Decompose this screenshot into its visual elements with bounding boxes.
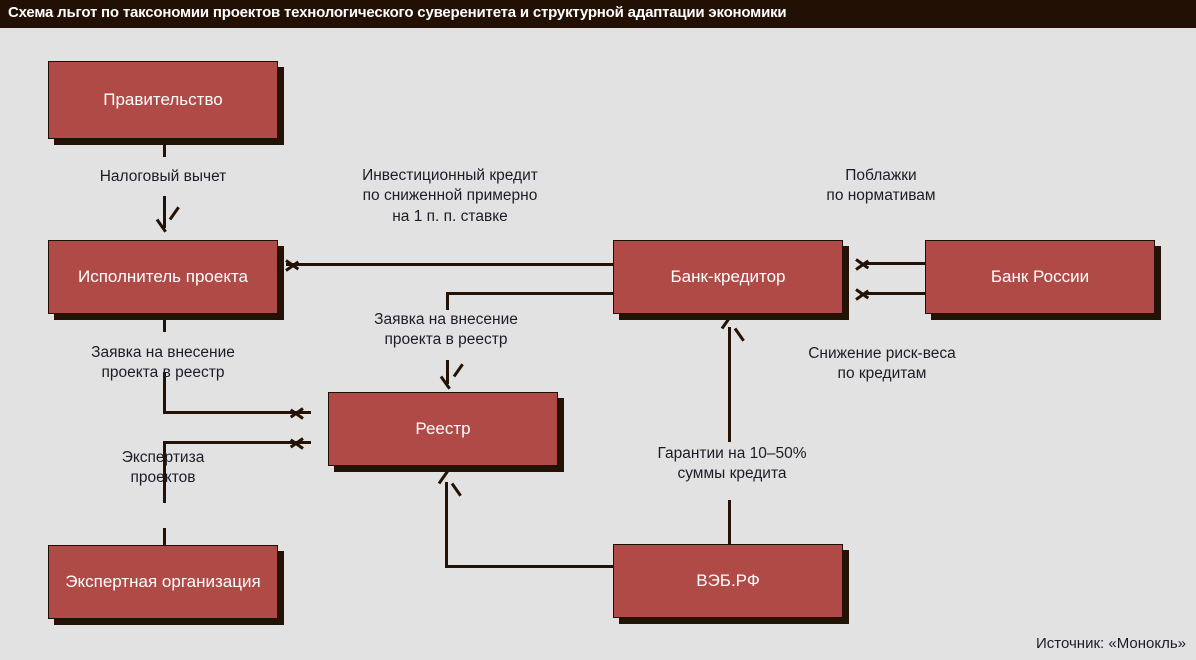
edge-veb-to-creditor-vertical-top	[728, 327, 731, 442]
edge-executor-to-registry-horizontal	[163, 411, 311, 414]
node-registry[interactable]: Реестр	[328, 392, 558, 466]
edge-label-project-expertise: Экспертиза проектов	[73, 448, 253, 489]
edge-expert-stem-bottom	[163, 528, 166, 546]
source-credit: Источник: «Монокль»	[1036, 635, 1186, 652]
edge-government-to-executor-stem-top	[163, 141, 166, 157]
edge-cbr-to-creditor-upper	[866, 262, 926, 265]
node-government-label: Правительство	[103, 89, 223, 111]
node-veb-rf-label: ВЭБ.РФ	[696, 570, 760, 592]
edge-creditor-to-registry-vertical-bottom	[446, 360, 449, 384]
node-bank-of-russia-label: Банк России	[991, 266, 1089, 288]
edge-label-tax-deduction: Налоговый вычет	[63, 167, 263, 187]
node-government[interactable]: Правительство	[48, 61, 278, 139]
edge-label-registry-application-center: Заявка на внесение проекта в реестр	[336, 310, 556, 351]
edge-veb-to-creditor-vertical-bottom	[728, 500, 731, 544]
node-executor[interactable]: Исполнитель проекта	[48, 240, 278, 314]
title-bar: Схема льгот по таксономии проектов техно…	[0, 0, 1196, 28]
node-creditor-bank-label: Банк-кредитор	[671, 266, 786, 288]
edge-veb-to-registry-vertical	[445, 482, 448, 568]
node-creditor-bank[interactable]: Банк-кредитор	[613, 240, 843, 314]
edge-creditor-to-registry-horizontal	[446, 292, 613, 295]
diagram-canvas: Схема льгот по таксономии проектов техно…	[0, 0, 1196, 660]
edge-label-investment-credit: Инвестиционный кредит по сниженной приме…	[330, 166, 570, 227]
edge-executor-stem-top	[163, 316, 166, 332]
edge-expert-to-registry-horizontal	[163, 441, 311, 444]
edge-government-to-executor-stem-bottom	[163, 196, 166, 228]
edge-creditor-to-executor-horizontal	[286, 263, 613, 266]
node-veb-rf[interactable]: ВЭБ.РФ	[613, 544, 843, 618]
node-bank-of-russia[interactable]: Банк России	[925, 240, 1155, 314]
page-title: Схема льгот по таксономии проектов техно…	[8, 4, 786, 21]
edge-cbr-to-creditor-lower	[866, 292, 926, 295]
node-registry-label: Реестр	[415, 418, 470, 440]
node-executor-label: Исполнитель проекта	[78, 266, 248, 288]
edge-creditor-to-registry-vertical-top	[446, 292, 449, 310]
edge-label-loan-guarantees: Гарантии на 10–50% суммы кредита	[637, 444, 827, 485]
edge-veb-to-registry-horizontal	[445, 565, 613, 568]
edge-label-risk-weight-reduction: Снижение риск-веса по кредитам	[787, 344, 977, 385]
node-expert-org[interactable]: Экспертная организация	[48, 545, 278, 619]
node-expert-org-label: Экспертная организация	[65, 571, 260, 593]
edge-label-regulatory-relief: Поблажки по нормативам	[786, 166, 976, 207]
edge-label-registry-application-left: Заявка на внесение проекта в реестр	[53, 343, 273, 384]
